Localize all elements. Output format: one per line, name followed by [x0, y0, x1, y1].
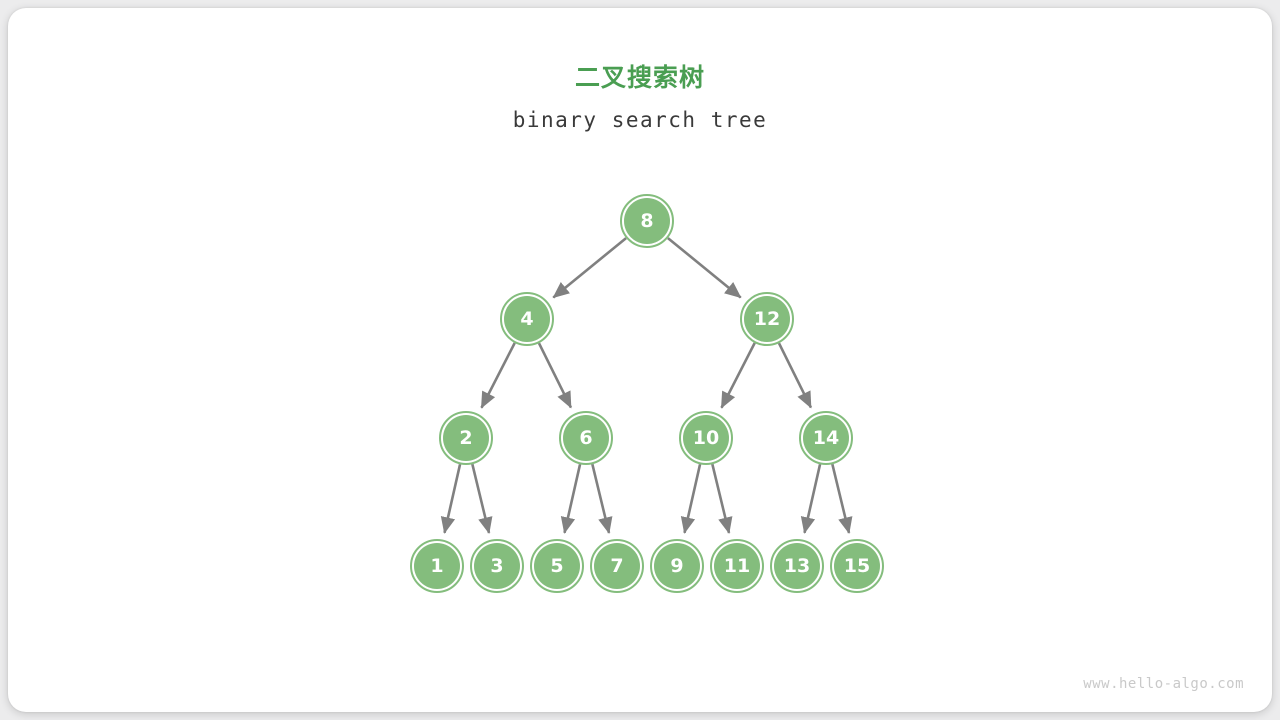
tree-node[interactable]: 5 — [531, 540, 583, 592]
tree-node-label: 12 — [754, 308, 780, 330]
tree-node-label: 10 — [693, 427, 719, 449]
tree-node-label: 2 — [459, 427, 472, 449]
tree-edge — [445, 464, 461, 533]
tree-node-label: 1 — [430, 555, 443, 577]
tree-edge-layer — [445, 238, 849, 533]
tree-edge — [832, 464, 849, 533]
tree-node-label: 11 — [724, 555, 750, 577]
tree-edge — [712, 464, 729, 533]
tree-node[interactable]: 6 — [560, 412, 612, 464]
tree-edge — [722, 343, 755, 408]
tree-edge — [805, 464, 821, 533]
tree-node[interactable]: 14 — [800, 412, 852, 464]
tree-node[interactable]: 7 — [591, 540, 643, 592]
tree-node[interactable]: 3 — [471, 540, 523, 592]
tree-node-layer: 841226101413579111315 — [411, 195, 883, 592]
tree-node[interactable]: 4 — [501, 293, 553, 345]
tree-node-label: 13 — [784, 555, 810, 577]
tree-node[interactable]: 9 — [651, 540, 703, 592]
tree-edge — [539, 343, 571, 407]
site-watermark: www.hello-algo.com — [1083, 676, 1244, 692]
tree-node[interactable]: 13 — [771, 540, 823, 592]
tree-node-label: 15 — [844, 555, 870, 577]
tree-node[interactable]: 10 — [680, 412, 732, 464]
tree-node[interactable]: 12 — [741, 293, 793, 345]
tree-edge — [553, 238, 626, 297]
diagram-card: 二叉搜索树 binary search tree 841226101413579… — [8, 8, 1272, 712]
tree-node[interactable]: 15 — [831, 540, 883, 592]
tree-node-label: 5 — [550, 555, 563, 577]
tree-edge — [685, 464, 701, 533]
tree-edge — [482, 343, 515, 408]
tree-node-label: 9 — [670, 555, 683, 577]
tree-node[interactable]: 2 — [440, 412, 492, 464]
tree-node[interactable]: 11 — [711, 540, 763, 592]
tree-node-label: 3 — [490, 555, 503, 577]
tree-node[interactable]: 1 — [411, 540, 463, 592]
tree-node-label: 7 — [610, 555, 623, 577]
tree-edge — [592, 464, 609, 533]
binary-search-tree-diagram: 841226101413579111315 — [8, 8, 1272, 712]
tree-edge — [668, 238, 741, 297]
tree-edge — [472, 464, 489, 533]
tree-node-label: 6 — [579, 427, 592, 449]
tree-node-label: 4 — [520, 308, 533, 330]
tree-node-label: 14 — [813, 427, 839, 449]
tree-edge — [565, 464, 581, 533]
tree-node-label: 8 — [640, 210, 653, 232]
tree-node[interactable]: 8 — [621, 195, 673, 247]
tree-edge — [779, 343, 811, 407]
